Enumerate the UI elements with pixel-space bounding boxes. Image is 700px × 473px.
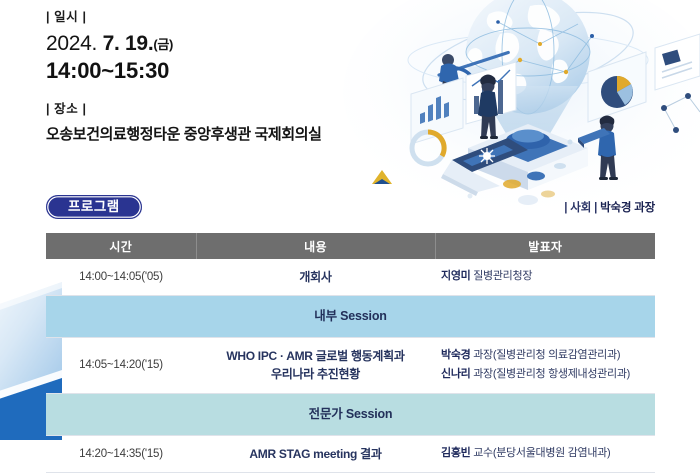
speaker-affiliation: 교수(분당서울대병원 감염내과) xyxy=(470,447,610,459)
column-header-speaker: 발표자 xyxy=(435,233,655,259)
cell-content: AMR STAG meeting 결과 xyxy=(196,435,435,472)
speaker-entry: 김홍빈 교수(분당서울대병원 감염내과) xyxy=(441,446,649,462)
date-label: | 일시 | xyxy=(46,10,322,25)
moderator-label: | 사회 | xyxy=(564,202,597,214)
session-title: 전문가 Session xyxy=(46,393,655,435)
event-date: 2024. 7. 19.(금) xyxy=(46,31,322,57)
program-table-body: 14:00~14:05('05)개회사지영미 질병관리청장내부 Session1… xyxy=(46,259,655,472)
cell-speaker: 지영미 질병관리청장 xyxy=(435,259,655,295)
isometric-illustration xyxy=(372,0,700,205)
cell-time: 14:00~14:05('05) xyxy=(46,259,196,295)
speaker-name: 지영미 xyxy=(441,270,470,282)
speaker-entry: 신나리 과장(질병관리청 항생제내성관리과) xyxy=(441,367,649,383)
program-table: 시간 내용 발표자 14:00~14:05('05)개회사지영미 질병관리청장내… xyxy=(46,233,655,473)
speaker-name: 김홍빈 xyxy=(441,447,470,459)
speaker-name: 신나리 xyxy=(441,368,470,380)
program-badge: 프로그램 xyxy=(46,195,142,220)
node-graph xyxy=(664,96,700,130)
chart-panel-left xyxy=(411,78,463,164)
moderator-info: | 사회 | 박숙경 과장 xyxy=(564,199,655,215)
cell-time: 14:20~14:35('15) xyxy=(46,435,196,472)
speaker-affiliation: 과장(질병관리청 의료감염관리과) xyxy=(470,349,620,361)
place-label: | 장소 | xyxy=(46,102,322,117)
chart-panel-mid xyxy=(466,62,516,124)
pie-chart-panel xyxy=(588,52,646,122)
person-standing-right xyxy=(578,116,618,181)
person-standing-left xyxy=(478,75,498,140)
moderator-name: 박숙경 과장 xyxy=(600,202,655,214)
laptop-icon xyxy=(441,138,528,196)
event-date-monthday: 7. 19. xyxy=(103,32,154,55)
session-divider-row: 전문가 Session xyxy=(46,393,655,435)
person-sitting xyxy=(437,51,510,97)
table-header-row: 시간 내용 발표자 xyxy=(46,233,655,259)
program-header-row: 프로그램 | 사회 | 박숙경 과장 xyxy=(46,194,655,220)
document-panel-top-right xyxy=(655,34,700,90)
cell-time: 14:05~14:20('15) xyxy=(46,337,196,393)
cell-speaker: 박숙경 과장(질병관리청 의료감염관리과)신나리 과장(질병관리청 항생제내성관… xyxy=(435,337,655,393)
table-row: 14:20~14:35('15)AMR STAG meeting 결과김홍빈 교… xyxy=(46,435,655,472)
speaker-entry: 지영미 질병관리청장 xyxy=(441,269,649,285)
table-row: 14:05~14:20('15)WHO IPC · AMR 글로벌 행동계획과우… xyxy=(46,337,655,393)
session-title: 내부 Session xyxy=(46,295,655,337)
speaker-name: 박숙경 xyxy=(441,349,470,361)
column-header-content: 내용 xyxy=(196,233,435,259)
speaker-affiliation: 질병관리청장 xyxy=(470,270,532,282)
session-divider-row: 내부 Session xyxy=(46,295,655,337)
program-table-head: 시간 내용 발표자 xyxy=(46,233,655,259)
event-info-block: | 일시 | 2024. 7. 19.(금) 14:00~15:30 | 장소 … xyxy=(46,10,322,144)
event-date-dayofweek: (금) xyxy=(153,37,173,52)
cell-content: 개회사 xyxy=(196,259,435,295)
speaker-entry: 박숙경 과장(질병관리청 의료감염관리과) xyxy=(441,348,649,364)
event-place: 오송보건의료행정타운 중앙후생관 국제회의실 xyxy=(46,123,322,144)
cell-speaker: 김홍빈 교수(분당서울대병원 감염내과) xyxy=(435,435,655,472)
column-header-time: 시간 xyxy=(46,233,196,259)
speaker-affiliation: 과장(질병관리청 항생제내성관리과) xyxy=(470,368,630,380)
event-time: 14:00~15:30 xyxy=(46,57,322,85)
event-date-year: 2024. xyxy=(46,32,97,55)
pedestal xyxy=(468,124,588,190)
table-row: 14:00~14:05('05)개회사지영미 질병관리청장 xyxy=(46,259,655,295)
cell-content: WHO IPC · AMR 글로벌 행동계획과우리나라 추진현황 xyxy=(196,337,435,393)
triangle-marker-icon xyxy=(372,170,392,184)
